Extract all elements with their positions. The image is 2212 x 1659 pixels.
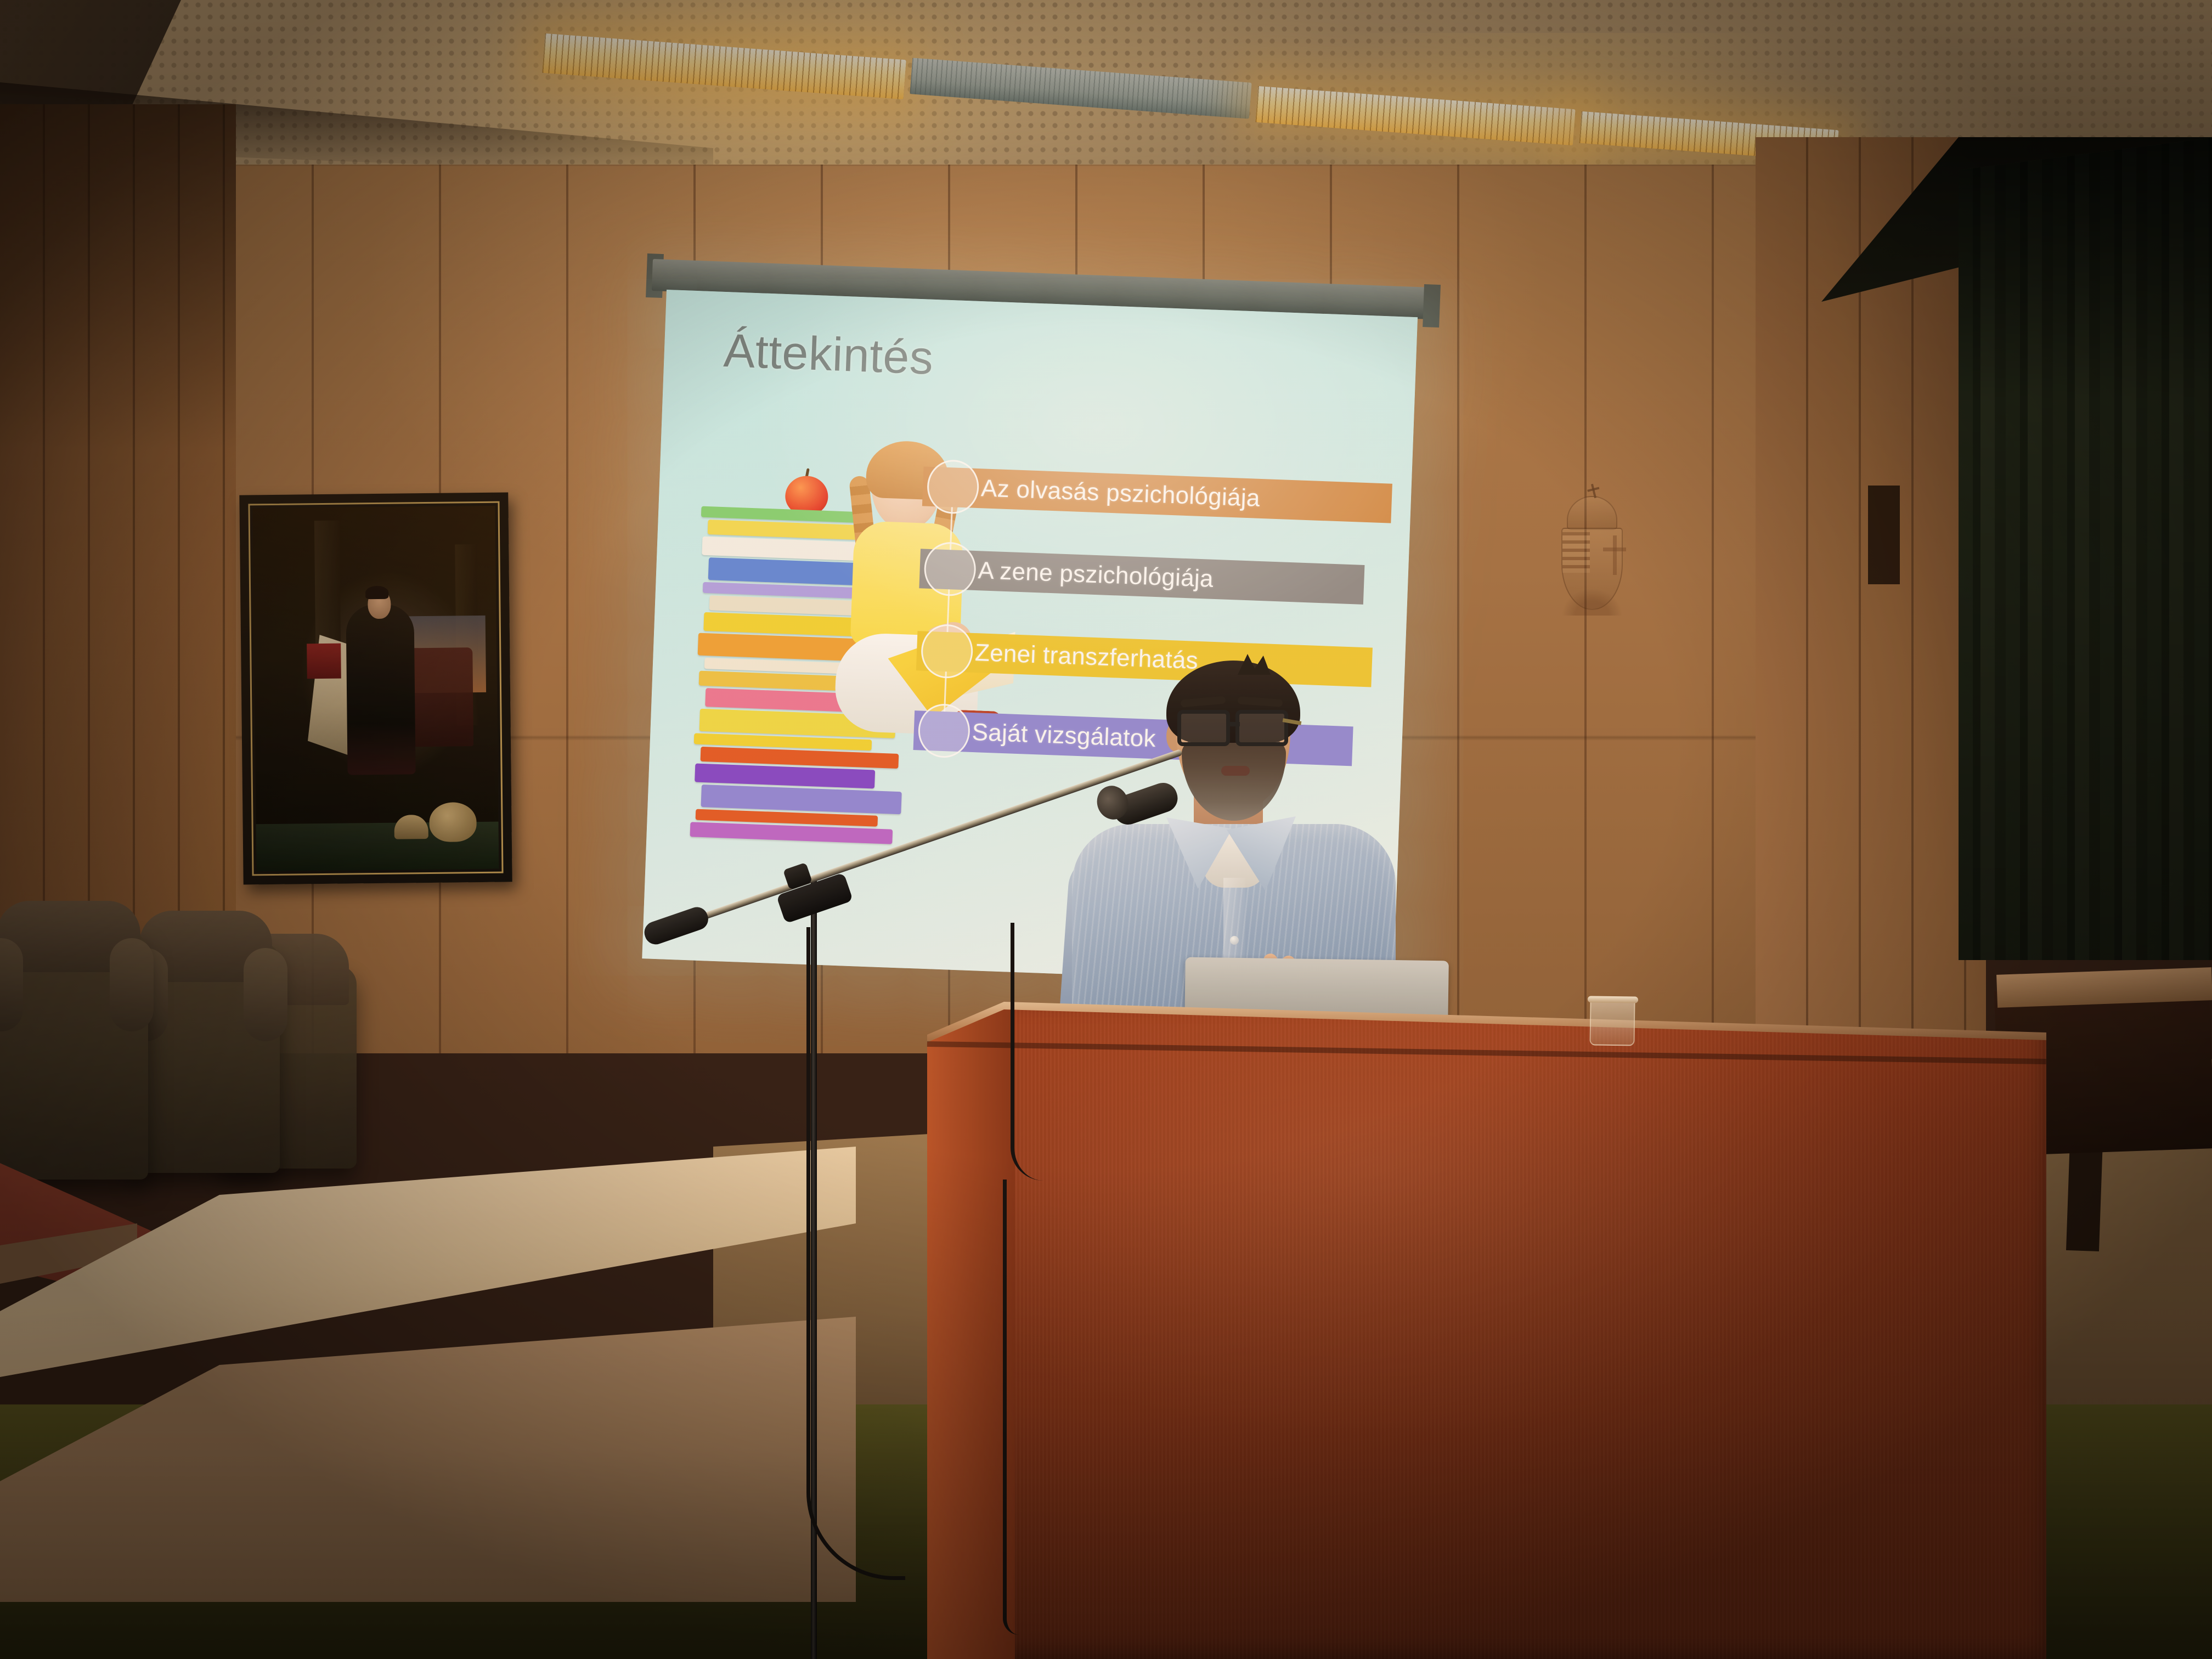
agenda-item-label: A zene pszichológiája [978,557,1214,593]
portrait-canvas [253,506,499,872]
shield-hills [1562,589,1622,616]
eyeglasses-bridge [1229,722,1240,726]
double-cross-icon [1603,535,1626,575]
armchair-armrest [0,938,23,1031]
water-glass-rim [1588,996,1638,1003]
armchair [0,933,148,1180]
armchair-armrest [110,938,154,1031]
shirt-button [1230,936,1239,945]
audio-cable [1003,1180,1019,1635]
eyeglasses-lens [1177,710,1230,746]
screen-housing-cap [1423,284,1441,328]
eyeglasses-lens [1235,710,1288,746]
presenter-mouth [1221,766,1250,776]
stage-curtain-shadow [1959,137,2212,960]
portrait-varnish-haze [253,506,499,872]
podium-surface-texture [927,1004,2046,1659]
shield-stripes [1562,532,1590,573]
presentation-photo: Áttekintés Az olvasás pszichológiájaA ze… [0,0,2212,1659]
hungarian-coat-of-arms-carving [1551,483,1634,620]
armchair [132,943,280,1173]
armchair-armrest [244,948,287,1041]
slide-title: Áttekintés [723,324,934,386]
crown-icon [1567,496,1617,530]
audio-cable [1011,923,1043,1181]
framed-oil-portrait [239,492,512,884]
water-glass[interactable] [1589,999,1635,1046]
audio-cable [806,927,905,1580]
wall-vent-panel [1868,486,1900,584]
agenda-item-label: Az olvasás pszichológiája [980,475,1260,512]
podium-side-face [927,1004,1015,1659]
